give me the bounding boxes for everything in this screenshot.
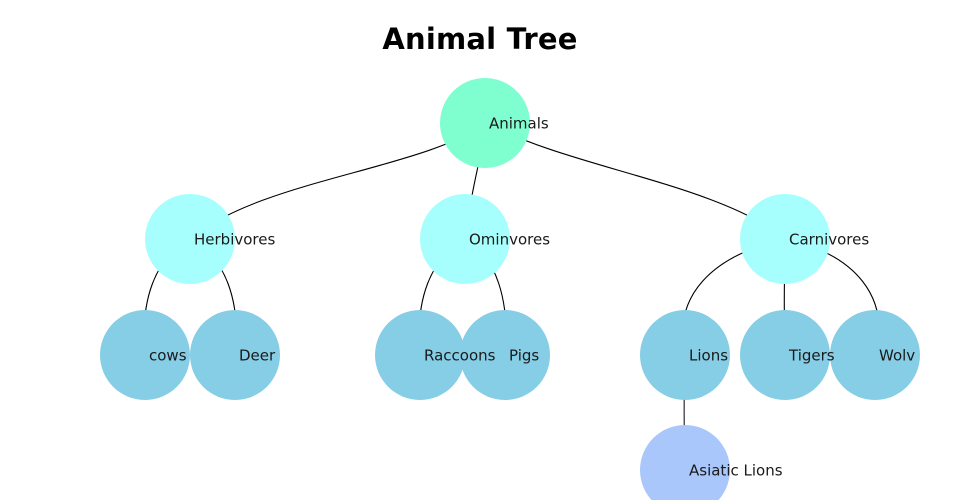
tree-node-label-ominvores: Ominvores (469, 231, 550, 249)
tree-diagram-canvas: Animal Tree AnimalsHerbivoresOminvoresCa… (0, 0, 960, 500)
labels-layer: AnimalsHerbivoresOminvoresCarnivorescows… (149, 115, 915, 480)
tree-node-label-asiatic_lions: Asiatic Lions (689, 462, 783, 480)
tree-node-label-carnivores: Carnivores (789, 231, 869, 249)
tree-node-label-raccoons: Raccoons (424, 347, 496, 365)
edges-layer (144, 123, 879, 470)
tree-node-label-cows: cows (149, 347, 187, 365)
tree-graph: AnimalsHerbivoresOminvoresCarnivorescows… (0, 0, 960, 500)
tree-node-label-herbivores: Herbivores (194, 231, 275, 249)
tree-node-label-deer: Deer (239, 347, 276, 365)
tree-node-label-tigers: Tigers (788, 347, 835, 365)
tree-node-label-animals: Animals (489, 115, 549, 133)
nodes-layer (100, 78, 920, 500)
tree-node-label-lions: Lions (689, 347, 728, 365)
tree-node-label-pigs: Pigs (509, 347, 539, 365)
tree-edge-animals-carnivores (487, 123, 786, 239)
tree-node-label-wolves: Wolv (879, 347, 915, 365)
